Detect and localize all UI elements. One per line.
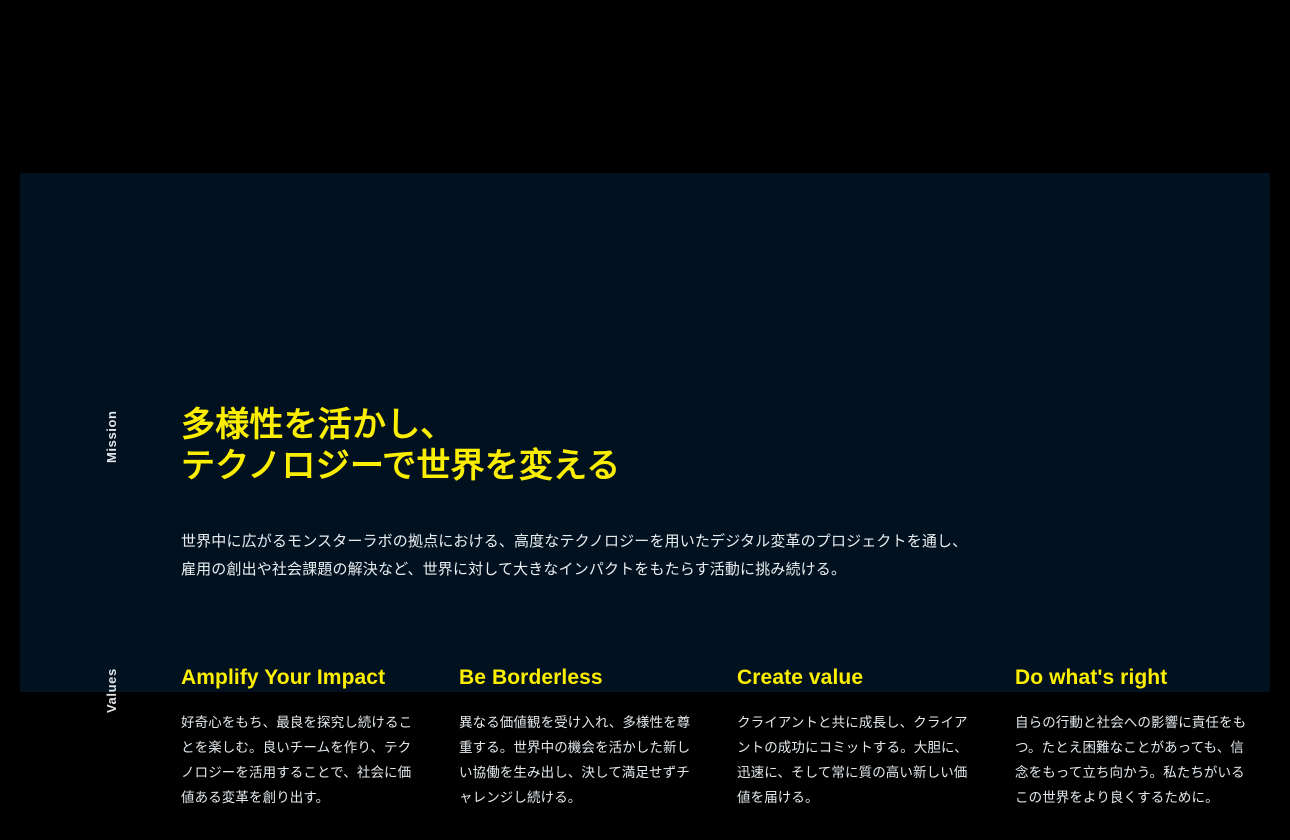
section-label-values: Values xyxy=(104,668,119,713)
value-card-amplify-your-impact: Amplify Your Impact 好奇心をもち、最良を探究し続けることを楽… xyxy=(181,665,415,810)
section-label-mission: Mission xyxy=(104,410,119,463)
values-grid: Amplify Your Impact 好奇心をもち、最良を探究し続けることを楽… xyxy=(181,665,1256,810)
page-root: Mission 多様性を活かし、 テクノロジーで世界を変える 世界中に広がるモン… xyxy=(0,0,1290,840)
mission-block: 多様性を活かし、 テクノロジーで世界を変える 世界中に広がるモンスターラボの拠点… xyxy=(181,405,1241,487)
value-text: 自らの行動と社会への影響に責任をもつ。たとえ困難なことがあっても、信念をもって立… xyxy=(1015,710,1249,810)
value-text: クライアントと共に成長し、クライアントの成功にコミットする。大胆に、迅速に、そし… xyxy=(737,710,971,810)
value-title: Be Borderless xyxy=(459,665,693,691)
value-text: 好奇心をもち、最良を探究し続けることを楽しむ。良いチームを作り、テクノロジーを活… xyxy=(181,710,415,810)
value-title: Do what's right xyxy=(1015,665,1249,691)
mission-body-text: 世界中に広がるモンスターラボの拠点における、高度なテクノロジーを用いたデジタル変… xyxy=(181,528,1081,584)
value-title: Amplify Your Impact xyxy=(181,665,415,691)
mission-heading: 多様性を活かし、 テクノロジーで世界を変える xyxy=(181,405,1241,487)
value-card-create-value: Create value クライアントと共に成長し、クライアントの成功にコミット… xyxy=(737,665,971,810)
value-title: Create value xyxy=(737,665,971,691)
value-text: 異なる価値観を受け入れ、多様性を尊重する。世界中の機会を活かした新しい協働を生み… xyxy=(459,710,693,810)
mission-values-panel: Mission 多様性を活かし、 テクノロジーで世界を変える 世界中に広がるモン… xyxy=(20,173,1270,692)
value-card-be-borderless: Be Borderless 異なる価値観を受け入れ、多様性を尊重する。世界中の機… xyxy=(459,665,693,810)
value-card-do-whats-right: Do what's right 自らの行動と社会への影響に責任をもつ。たとえ困難… xyxy=(1015,665,1249,810)
